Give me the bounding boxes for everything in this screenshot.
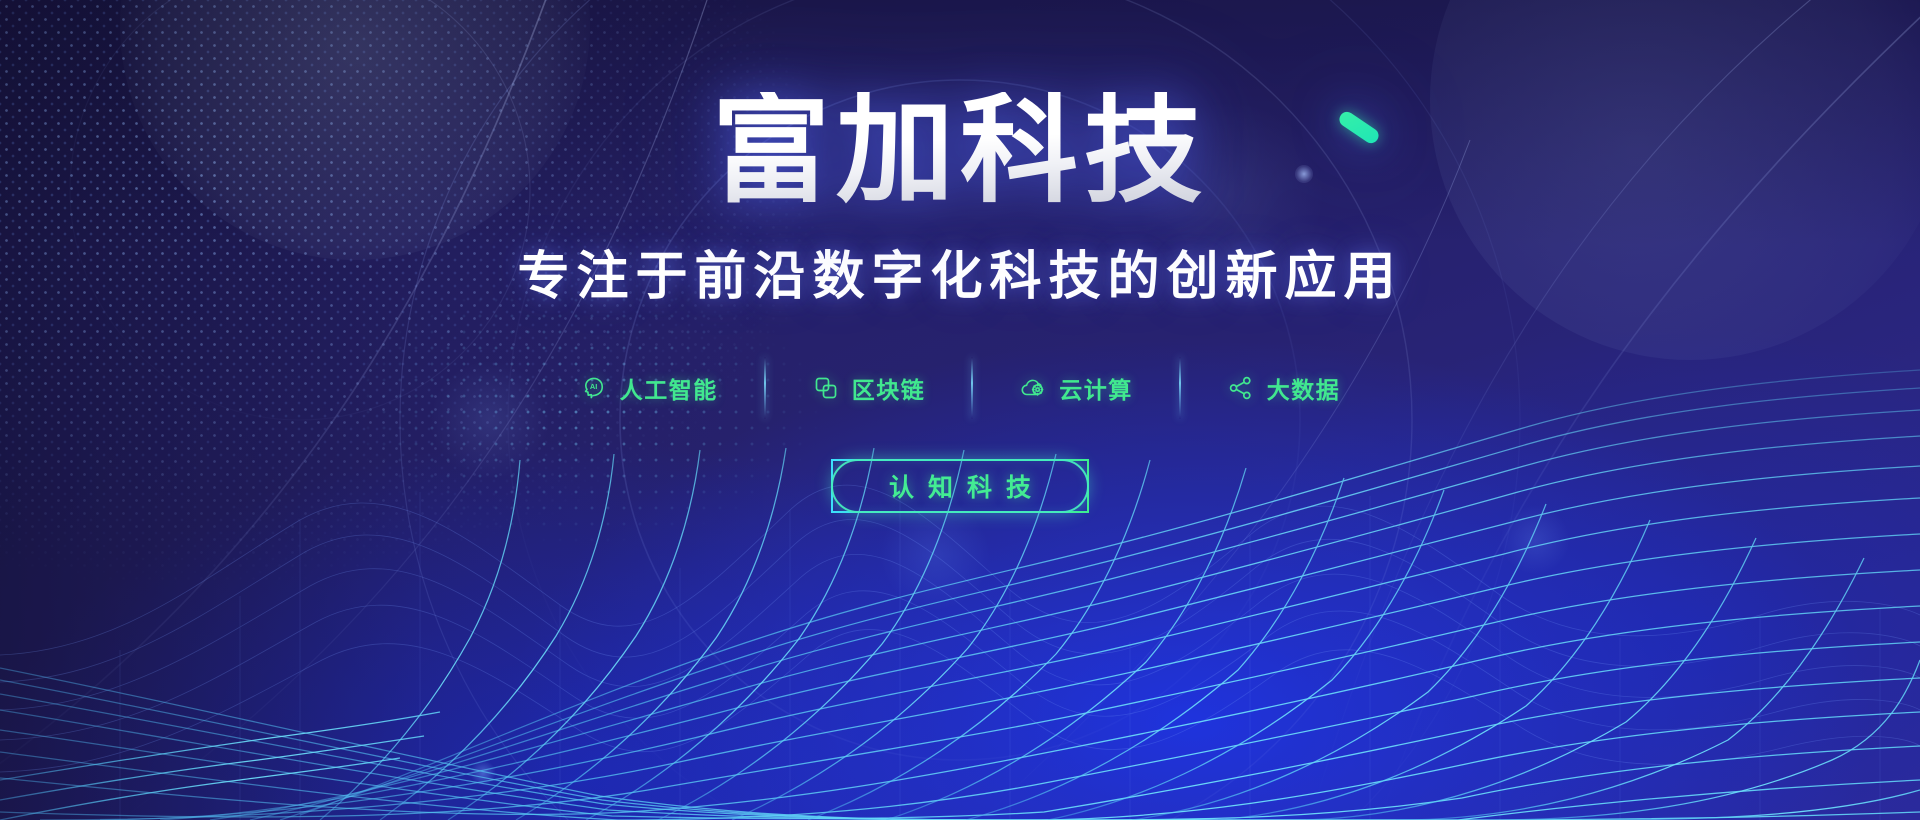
cloud-gear-icon	[1019, 374, 1047, 402]
share-nodes-icon	[1227, 374, 1255, 402]
page-subtitle: 专注于前沿数字化科技的创新应用	[517, 234, 1402, 309]
feature-tag-cloud[interactable]: 云计算	[973, 371, 1179, 405]
feature-tag-label: 大数据	[1267, 371, 1341, 405]
feature-tag-label: 云计算	[1059, 371, 1133, 405]
feature-tag-list: AI 人工智能 区块链	[534, 357, 1387, 419]
svg-text:AI: AI	[590, 382, 597, 391]
ai-head-icon: AI	[580, 374, 608, 402]
feature-tag-ai[interactable]: AI 人工智能	[534, 371, 764, 405]
brand-title-text: 富加科技	[712, 85, 1208, 217]
feature-tag-blockchain[interactable]: 区块链	[766, 371, 972, 405]
blockchain-blocks-icon	[812, 374, 840, 402]
cta-container: 认知科技	[831, 459, 1089, 513]
feature-tag-label: 人工智能	[620, 371, 718, 405]
hero-content: 富加科技 专注于前沿数字化科技的创新应用 AI 人工智能	[0, 0, 1920, 820]
cta-button-label: 认知科技	[875, 468, 1045, 504]
cognitive-tech-button[interactable]: 认知科技	[831, 459, 1089, 513]
feature-tag-label: 区块链	[852, 371, 926, 405]
brand-accent-stroke	[1337, 109, 1382, 146]
page-title: 富加科技	[712, 92, 1208, 210]
feature-tag-bigdata[interactable]: 大数据	[1181, 371, 1387, 405]
hero-banner: 富加科技 专注于前沿数字化科技的创新应用 AI 人工智能	[0, 0, 1920, 820]
